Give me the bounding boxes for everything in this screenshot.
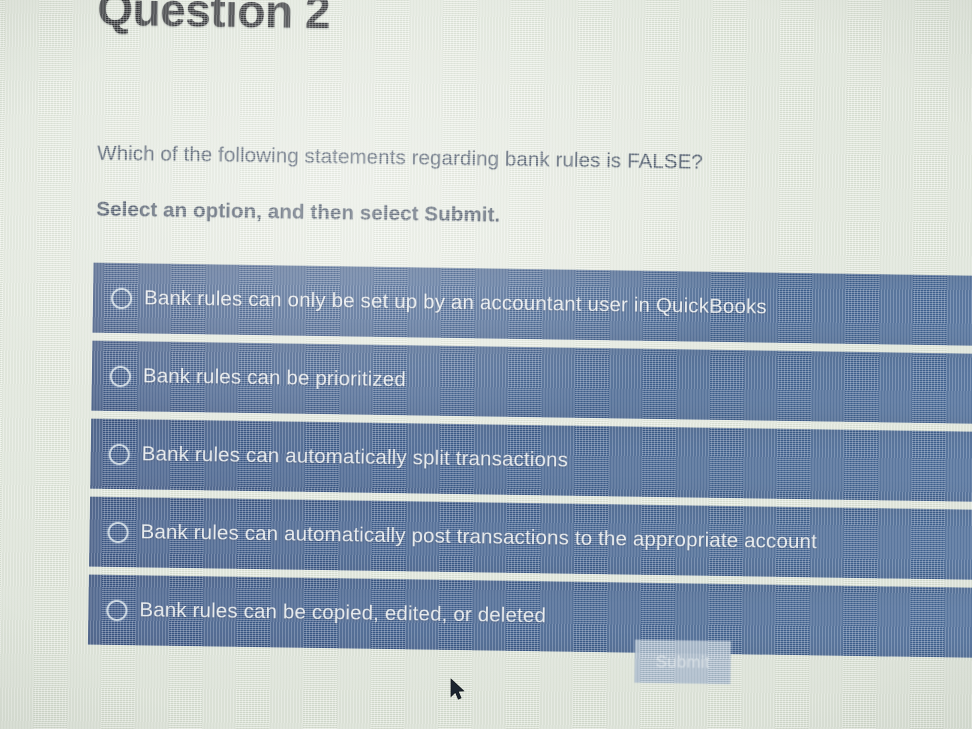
quiz-page-surface: Question 2 Which of the following statem… [0,0,972,729]
photographed-screen: Question 2 Which of the following statem… [0,0,972,729]
answer-option-3[interactable]: Bank rules can automatically split trans… [90,419,972,503]
answer-option-1[interactable]: Bank rules can only be set up by an acco… [93,263,972,347]
answer-option-4[interactable]: Bank rules can automatically post transa… [89,497,972,581]
radio-unchecked-icon[interactable] [109,443,130,464]
page-title: Question 2 [97,0,972,45]
answer-option-5[interactable]: Bank rules can be copied, edited, or del… [88,575,972,659]
answer-options-list: Bank rules can only be set up by an acco… [88,263,972,667]
answer-option-label: Bank rules can automatically split trans… [142,442,569,472]
answer-option-label: Bank rules can automatically post transa… [140,520,817,554]
answer-option-label: Bank rules can only be set up by an acco… [144,286,767,319]
answer-option-label: Bank rules can be prioritized [143,364,406,392]
question-prompt-text: Which of the following statements regard… [97,142,703,175]
instruction-text: Select an option, and then select Submit… [96,198,500,228]
submit-button[interactable]: Submit [634,640,731,684]
radio-unchecked-icon[interactable] [110,365,131,386]
radio-unchecked-icon[interactable] [106,599,127,620]
radio-unchecked-icon[interactable] [107,521,128,542]
answer-option-label: Bank rules can be copied, edited, or del… [139,598,546,628]
quiz-content: Question 2 Which of the following statem… [87,0,972,729]
radio-unchecked-icon[interactable] [111,287,132,308]
answer-option-2[interactable]: Bank rules can be prioritized [91,341,972,425]
